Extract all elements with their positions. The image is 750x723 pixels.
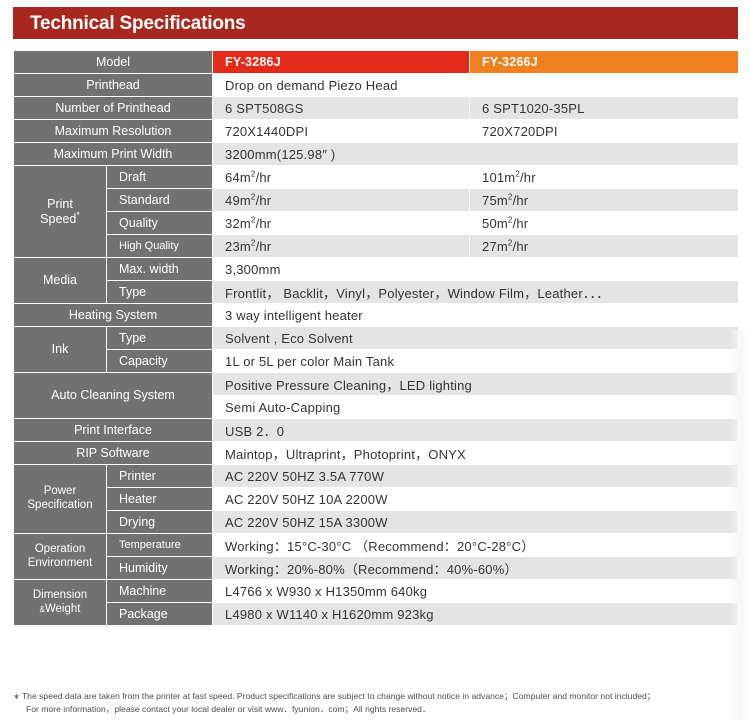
row-sublabel-heater: Heater	[107, 488, 213, 511]
print-speed-quality-b: 50m2/hr	[470, 212, 739, 235]
row-label-model: Model	[14, 51, 213, 74]
table-row: Ink Type Solvent , Eco Solvent	[14, 327, 739, 350]
row-label-printhead: Printhead	[14, 74, 213, 97]
value-number: 27m	[482, 239, 508, 254]
footnote-line-1: ∗ The speed data are taken from the prin…	[13, 690, 743, 703]
dimension-line1: Dimension	[33, 589, 87, 601]
number-of-printhead-b: 6 SPT1020-35PL	[470, 97, 739, 120]
row-sublabel-temperature: Temperature	[107, 534, 213, 557]
heating-system-value: 3 way intelligent heater	[213, 304, 739, 327]
row-label-heating-system: Heating System	[14, 304, 213, 327]
auto-cleaning-value-2: Semi Auto-Capping	[213, 396, 739, 419]
value-number: 23m	[225, 239, 251, 254]
print-speed-line2: Speed	[40, 212, 76, 226]
row-sublabel-printer: Printer	[107, 465, 213, 488]
table-row: Print Interface USB 2．0	[14, 419, 739, 442]
row-label-maximum-resolution: Maximum Resolution	[14, 120, 213, 143]
value-number: 32m	[225, 216, 251, 231]
table-row: Printhead Drop on demand Piezo Head	[14, 74, 739, 97]
table-row: Quality 32m2/hr 50m2/hr	[14, 212, 739, 235]
row-sublabel-media-type: Type	[107, 281, 213, 304]
ink-capacity-value: 1L or 5L per color Main Tank	[213, 350, 739, 373]
value-number: 75m	[482, 193, 508, 208]
row-label-print-interface: Print Interface	[14, 419, 213, 442]
table-row: RIP Software Maintop，Ultraprint，Photopri…	[14, 442, 739, 465]
row-sublabel-draft: Draft	[107, 166, 213, 189]
table-row: High Quality 23m2/hr 27m2/hr	[14, 235, 739, 258]
table-row: Heater AC 220V 50HZ 10A 2200W	[14, 488, 739, 511]
row-sublabel-drying: Drying	[107, 511, 213, 534]
power-drying-value: AC 220V 50HZ 15A 3300W	[213, 511, 739, 534]
row-group-label-power-specification: Power Specification	[14, 465, 107, 534]
maximum-resolution-b: 720X720DPI	[470, 120, 739, 143]
value-number: 49m	[225, 193, 251, 208]
row-group-label-dimension-weight: Dimension &Weight	[14, 580, 107, 626]
auto-cleaning-value-1: Positive Pressure Cleaning，LED lighting	[213, 373, 739, 396]
table-row: Humidity Working：20%-80%（Recommend：40%-6…	[14, 557, 739, 580]
media-type-value: Frontlit， Backlit，Vinyl，Polyester，Window…	[213, 281, 739, 304]
dimension-machine-value: L4766 x W930 x H1350mm 640kg	[213, 580, 739, 603]
value-number: 101m	[482, 170, 515, 185]
print-speed-high-quality-a: 23m2/hr	[213, 235, 470, 258]
row-sublabel-high-quality: High Quality	[107, 235, 213, 258]
table-row: Operation Environment Temperature Workin…	[14, 534, 739, 557]
footnote-text-2: For more information，please contact your…	[26, 704, 431, 714]
row-sublabel-humidity: Humidity	[107, 557, 213, 580]
print-speed-draft-b: 101m2/hr	[470, 166, 739, 189]
table-row: Heating System 3 way intelligent heater	[14, 304, 739, 327]
table-row: Package L4980 x W1140 x H1620mm 923kg	[14, 603, 739, 626]
footnote: ∗ The speed data are taken from the prin…	[13, 690, 743, 717]
value-unit: /hr	[520, 170, 536, 185]
table-row: Print Speed* Draft 64m2/hr 101m2/hr	[14, 166, 739, 189]
operation-env-line2: Environment	[28, 557, 93, 569]
operation-env-line1: Operation	[35, 543, 86, 555]
row-sublabel-ink-capacity: Capacity	[107, 350, 213, 373]
table-row: Power Specification Printer AC 220V 50HZ…	[14, 465, 739, 488]
print-speed-quality-a: 32m2/hr	[213, 212, 470, 235]
value-unit: /hr	[256, 239, 272, 254]
table-row: Type Frontlit， Backlit，Vinyl，Polyester，W…	[14, 281, 739, 304]
page-title: Technical Specifications	[13, 14, 246, 33]
page-title-bar: Technical Specifications	[13, 7, 738, 39]
footnote-bullet-icon: ∗	[13, 692, 20, 701]
value-unit: /hr	[513, 193, 529, 208]
value-number: 50m	[482, 216, 508, 231]
table-row: Dimension &Weight Machine L4766 x W930 x…	[14, 580, 739, 603]
dimension-package-value: L4980 x W1140 x H1620mm 923kg	[213, 603, 739, 626]
spec-sheet-page: Technical Specifications Model FY-3286J …	[0, 0, 750, 723]
row-group-label-operation-environment: Operation Environment	[14, 534, 107, 580]
print-speed-high-quality-b: 27m2/hr	[470, 235, 739, 258]
row-sublabel-package: Package	[107, 603, 213, 626]
humidity-value: Working：20%-80%（Recommend：40%-60%）	[213, 557, 739, 580]
value-unit: /hr	[256, 170, 272, 185]
media-max-width-value: 3,300mm	[213, 258, 739, 281]
temperature-value: Working：15°C-30°C （Recommend：20°C-28°C）	[213, 534, 739, 557]
row-sublabel-standard: Standard	[107, 189, 213, 212]
power-heater-value: AC 220V 50HZ 10A 2200W	[213, 488, 739, 511]
value-unit: /hr	[513, 239, 529, 254]
print-speed-standard-b: 75m2/hr	[470, 189, 739, 212]
number-of-printhead-a: 6 SPT508GS	[213, 97, 470, 120]
row-group-label-ink: Ink	[14, 327, 107, 373]
row-label-rip-software: RIP Software	[14, 442, 213, 465]
table-row: Media Max. width 3,300mm	[14, 258, 739, 281]
value-unit: /hr	[256, 216, 272, 231]
table-row: Maximum Resolution 720X1440DPI 720X720DP…	[14, 120, 739, 143]
table-row: Standard 49m2/hr 75m2/hr	[14, 189, 739, 212]
print-speed-line1: Print	[47, 197, 73, 211]
row-sublabel-quality: Quality	[107, 212, 213, 235]
model-b-value: FY-3266J	[470, 51, 739, 74]
table-row: Maximum Print Width 3200mm(125.98″ )	[14, 143, 739, 166]
row-sublabel-max-width: Max. width	[107, 258, 213, 281]
row-sublabel-machine: Machine	[107, 580, 213, 603]
power-spec-line2: Specification	[27, 499, 92, 511]
table-row: Auto Cleaning System Positive Pressure C…	[14, 373, 739, 396]
table-row: Number of Printhead 6 SPT508GS 6 SPT1020…	[14, 97, 739, 120]
footnote-text-1: The speed data are taken from the printe…	[22, 691, 655, 701]
value-unit: /hr	[256, 193, 272, 208]
power-printer-value: AC 220V 50HZ 3.5A 770W	[213, 465, 739, 488]
rip-software-value: Maintop，Ultraprint，Photoprint，ONYX	[213, 442, 739, 465]
table-row: Capacity 1L or 5L per color Main Tank	[14, 350, 739, 373]
value-number: 64m	[225, 170, 251, 185]
print-speed-draft-a: 64m2/hr	[213, 166, 470, 189]
row-label-maximum-print-width: Maximum Print Width	[14, 143, 213, 166]
maximum-resolution-a: 720X1440DPI	[213, 120, 470, 143]
row-group-label-print-speed: Print Speed*	[14, 166, 107, 258]
model-a-value: FY-3286J	[213, 51, 470, 74]
footnote-line-2: For more information，please contact your…	[13, 703, 743, 716]
value-unit: /hr	[513, 216, 529, 231]
row-group-label-media: Media	[14, 258, 107, 304]
table-row: Drying AC 220V 50HZ 15A 3300W	[14, 511, 739, 534]
maximum-print-width-value: 3200mm(125.98″ )	[213, 143, 739, 166]
printhead-value: Drop on demand Piezo Head	[213, 74, 739, 97]
row-label-auto-cleaning-system: Auto Cleaning System	[14, 373, 213, 419]
dimension-line2: Weight	[45, 603, 81, 615]
technical-specifications-table: Model FY-3286J FY-3266J Printhead Drop o…	[13, 50, 739, 626]
row-sublabel-ink-type: Type	[107, 327, 213, 350]
print-interface-value: USB 2．0	[213, 419, 739, 442]
print-speed-standard-a: 49m2/hr	[213, 189, 470, 212]
table-row: Model FY-3286J FY-3266J	[14, 51, 739, 74]
ink-type-value: Solvent , Eco Solvent	[213, 327, 739, 350]
row-label-number-of-printhead: Number of Printhead	[14, 97, 213, 120]
power-spec-line1: Power	[44, 485, 77, 497]
footnote-marker-icon: *	[76, 209, 80, 219]
